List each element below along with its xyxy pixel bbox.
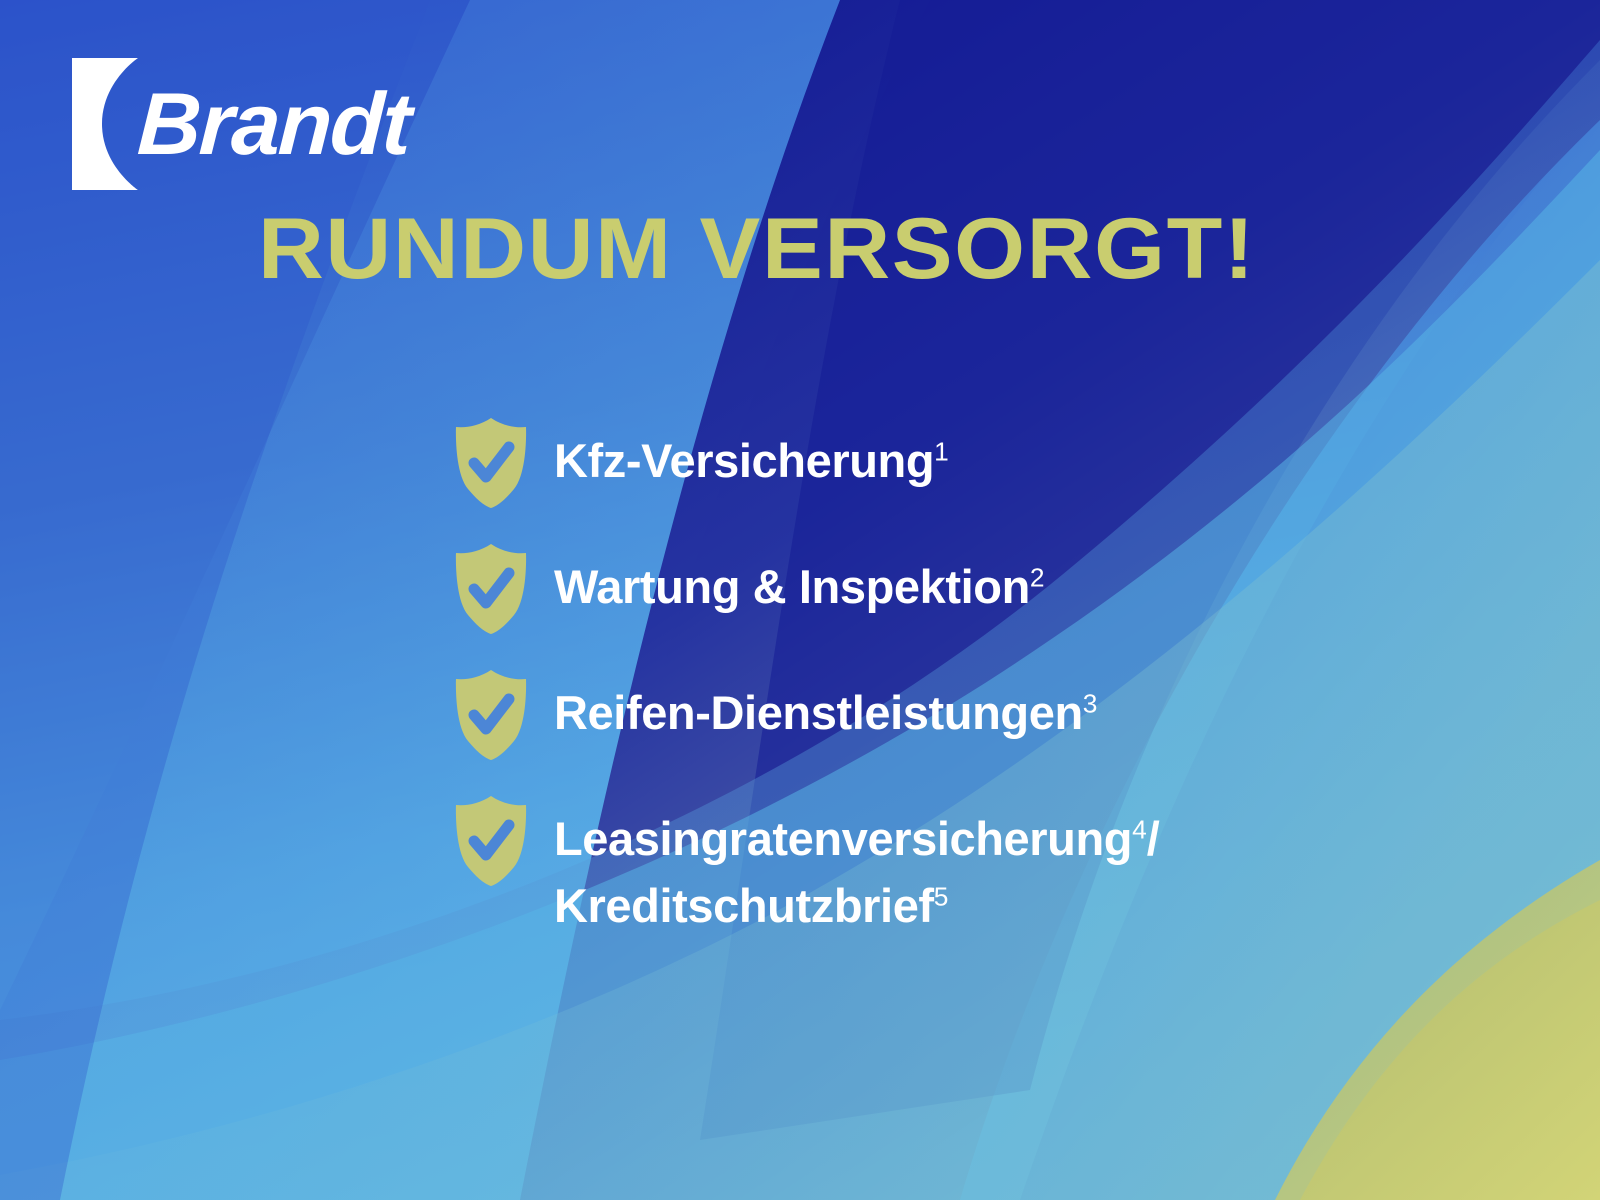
brand-wordmark: Brandt bbox=[136, 80, 412, 168]
benefit-label: Kfz-Versicherung1 bbox=[554, 416, 949, 495]
page-title: RUNDUM VERSORGT! bbox=[258, 204, 1256, 294]
list-item: Wartung & Inspektion2 bbox=[452, 542, 1512, 646]
benefits-list: Kfz-Versicherung1 Wartung & Inspektion2 … bbox=[452, 416, 1512, 939]
benefit-label: Wartung & Inspektion2 bbox=[554, 542, 1045, 621]
footnote-marker: 4 bbox=[1132, 814, 1147, 844]
footnote-marker: 1 bbox=[934, 436, 949, 466]
benefit-separator: / bbox=[1147, 812, 1160, 865]
brandt-bracket-mark bbox=[72, 58, 144, 190]
benefit-label-text: Wartung & Inspektion bbox=[554, 560, 1030, 613]
list-item: Reifen-Dienstleistungen3 bbox=[452, 668, 1512, 772]
list-item: Kfz-Versicherung1 bbox=[452, 416, 1512, 520]
benefit-label-text: Leasingratenversicherung bbox=[554, 812, 1132, 865]
footnote-marker: 5 bbox=[934, 881, 949, 911]
benefit-label: Leasingratenversicherung4/ Kreditschutzb… bbox=[554, 794, 1159, 939]
benefit-label-text: Reifen-Dienstleistungen bbox=[554, 686, 1083, 739]
promo-banner: Brandt RUNDUM VERSORGT! Kfz-Versicherung… bbox=[0, 0, 1600, 1200]
footnote-marker: 3 bbox=[1083, 688, 1098, 718]
brand-logo[interactable]: Brandt bbox=[72, 56, 410, 192]
shield-check-icon bbox=[452, 794, 530, 888]
benefit-label-text: Kfz-Versicherung bbox=[554, 434, 934, 487]
shield-check-icon bbox=[452, 542, 530, 636]
list-item: Leasingratenversicherung4/ Kreditschutzb… bbox=[452, 794, 1512, 939]
benefit-label: Reifen-Dienstleistungen3 bbox=[554, 668, 1097, 747]
shield-check-icon bbox=[452, 416, 530, 510]
footnote-marker: 2 bbox=[1030, 562, 1045, 592]
shield-check-icon bbox=[452, 668, 530, 762]
benefit-label-text-line2: Kreditschutzbrief bbox=[554, 879, 934, 932]
